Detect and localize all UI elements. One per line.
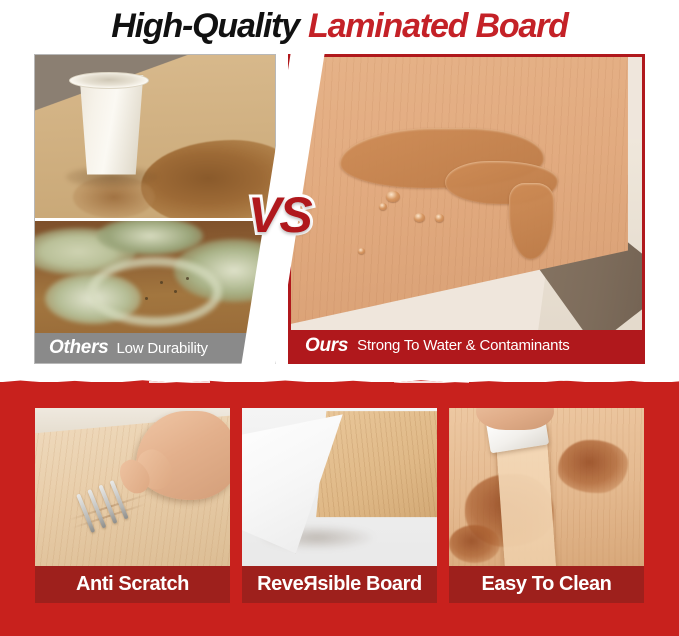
feature-card-reversible-board: ReveЯsible Board [242,408,437,603]
ours-panel: Ours Strong To Water & Contaminants [288,54,645,364]
mold-patch [97,218,203,255]
others-title: Others [49,337,108,359]
grunge-streak [394,381,469,383]
feature-caption: Anti Scratch [35,566,230,603]
feature-caption: Easy To Clean [449,566,644,603]
anti-scratch-photo [35,408,230,566]
ours-label-bar: Ours Strong To Water & Contaminants [291,330,642,361]
page-title-accent: Laminated Board [308,7,568,46]
paper-cup-rim [69,72,149,89]
grunge-streak [27,379,115,381]
grunge-streak [496,379,625,381]
reversible-board-photo [242,408,437,566]
feature-card-row: Anti Scratch ReveЯsible Board [35,408,644,603]
grunge-streak [149,381,210,383]
grunge-top-edge [0,373,679,395]
page-title: High-Quality Laminated Board [0,0,679,48]
page-title-primary: High-Quality [111,7,299,46]
water-droplet [435,214,444,222]
paper-cup [73,75,149,175]
grunge-streak [244,378,353,380]
feature-card-easy-to-clean: Easy To Clean [449,408,644,603]
others-label-bar: Others Low Durability [35,333,275,363]
spill-stain [449,525,500,563]
others-spill-photo [35,55,275,218]
ours-subtitle: Strong To Water & Contaminants [357,337,569,354]
feature-caption: ReveЯsible Board [242,566,437,603]
ours-title: Ours [305,335,348,357]
others-subtitle: Low Durability [116,340,207,357]
mold-ring [88,257,222,326]
vs-badge: VS [248,186,311,244]
ours-water-photo [291,57,642,330]
features-section: Anti Scratch ReveЯsible Board [0,382,679,636]
water-droplet [414,213,425,222]
water-droplet [386,191,400,202]
water-droplet [358,248,365,254]
comparison-section: Others Low Durability Ours Strong To Wat… [34,54,645,364]
feature-card-anti-scratch: Anti Scratch [35,408,230,603]
spill-stain [558,440,628,494]
water-droplet [379,203,387,210]
easy-to-clean-photo [449,408,644,566]
others-mold-photo [35,218,275,333]
others-panel: Others Low Durability [34,54,276,364]
